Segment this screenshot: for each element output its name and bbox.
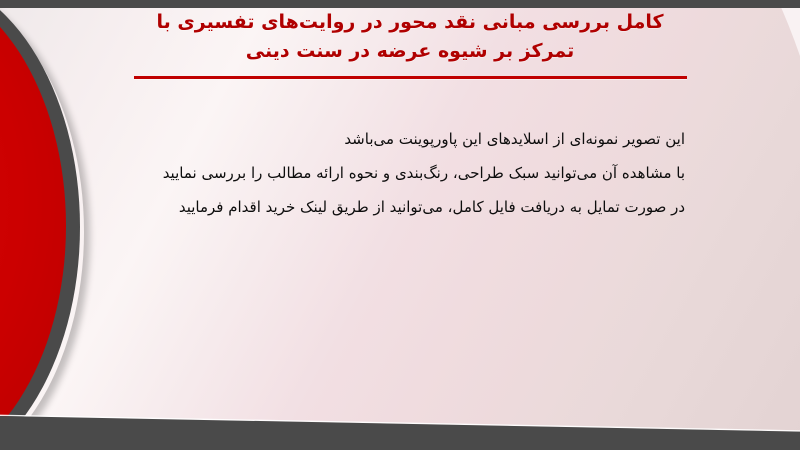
slide-title-line-1: کامل بررسی مبانی نقد محور در روایت‌های ت… xyxy=(110,8,710,37)
slide-body-line-3: در صورت تمایل به دریافت فایل کامل، می‌تو… xyxy=(60,190,685,224)
slide-body-line-2: با مشاهده آن می‌توانید سبک طراحی، رنگ‌بن… xyxy=(60,156,685,190)
slide-body: این تصویر نمونه‌ای از اسلایدهای این پاور… xyxy=(60,122,685,224)
slide-canvas: کامل بررسی مبانی نقد محور در روایت‌های ت… xyxy=(0,0,800,450)
slide-title-line-2: تمرکز بر شیوه عرضه در سنت دینی xyxy=(110,37,710,66)
slide-body-line-1: این تصویر نمونه‌ای از اسلایدهای این پاور… xyxy=(60,122,685,156)
title-underline-rule xyxy=(134,76,687,79)
slide-content: کامل بررسی مبانی نقد محور در روایت‌های ت… xyxy=(0,0,800,450)
slide-title: کامل بررسی مبانی نقد محور در روایت‌های ت… xyxy=(110,8,710,66)
